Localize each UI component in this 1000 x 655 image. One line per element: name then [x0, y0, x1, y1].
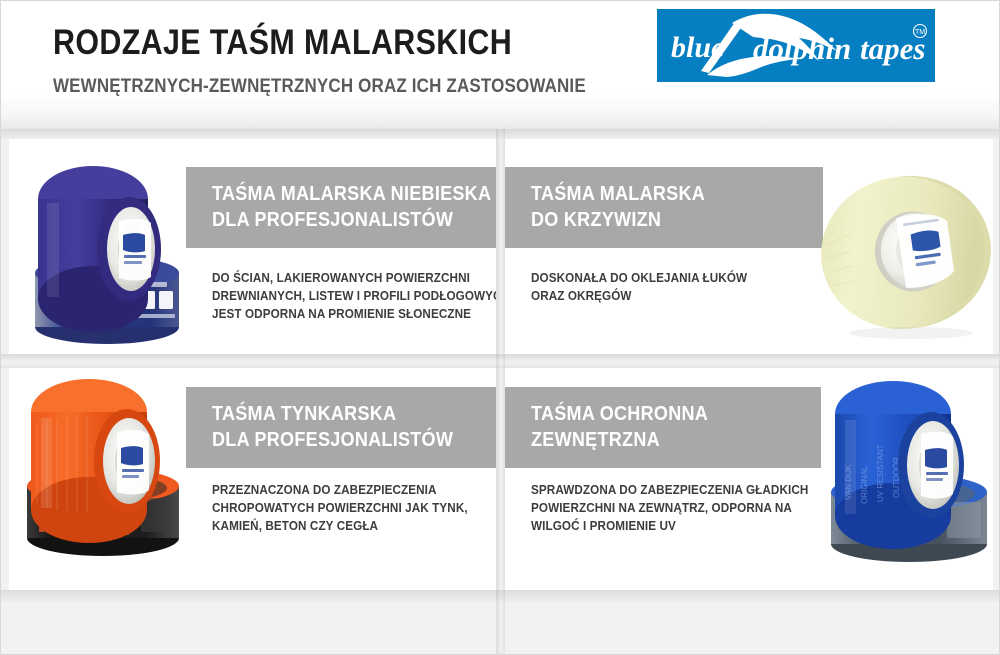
logo-word-dolphin: dolphin [753, 31, 851, 66]
logo-word-blue: blue [671, 31, 724, 64]
card-description-line3: KAMIEŃ, BETON CZY CEGŁA [212, 517, 468, 535]
card-banner: TAŚMA OCHRONNA ZEWNĘTRZNA [505, 387, 821, 468]
product-image-blue-exterior-tape: VAN DIJK ORIGINAL UV RESISTANT OUTDOOR [825, 368, 993, 568]
card-description-line2: POWIERZCHNI NA ZEWNĄTRZ, ODPORNA NA [531, 499, 808, 517]
card-description-line2: DREWNIANYCH, LISTEW I PROFILI PODŁOGOWYC… [212, 287, 496, 305]
card-description-line2: ORAZ OKRĘGÓW [531, 287, 747, 305]
product-image-orange-stucco-tape [23, 368, 188, 563]
grid-gutter-bottom [1, 590, 1000, 604]
card-heading-line1: TAŚMA OCHRONNA [531, 401, 786, 427]
card-description: PRZEZNACZONA DO ZABEZPIECZENIA CHROPOWAT… [212, 481, 468, 535]
poster-header: RODZAJE TAŚM MALARSKICH WEWNĘTRZNYCH-ZEW… [1, 1, 1000, 129]
grid-gutter-vertical [496, 129, 505, 655]
page-title: RODZAJE TAŚM MALARSKICH [53, 23, 586, 63]
product-image-cream-masking-tape [821, 161, 993, 343]
card-heading-line1: TAŚMA MALARSKA NIEBIESKA [212, 181, 462, 207]
brand-logo: blue dolphin tapes TM [657, 9, 935, 82]
card-description: DOSKONAŁA DO OKLEJANIA ŁUKÓW ORAZ OKRĘGÓ… [531, 269, 747, 305]
svg-text:ORIGINAL: ORIGINAL [860, 465, 869, 504]
product-image-blue-painters-tape [31, 151, 186, 351]
card-grid: TAŚMA MALARSKA NIEBIESKA DLA PROFESJONAL… [1, 129, 1000, 655]
card-banner: TAŚMA MALARSKA DO KRZYWIZN [505, 167, 823, 248]
card-description-line2: CHROPOWATYCH POWIERZCHNI JAK TYNK, [212, 499, 468, 517]
card-description-line3: WILGOĆ I PROMIENIE UV [531, 517, 808, 535]
card-banner: TAŚMA TYNKARSKA DLA PROFESJONALISTÓW [186, 387, 496, 468]
card-description: DO ŚCIAN, LAKIEROWANYCH POWIERZCHNI DREW… [212, 269, 496, 323]
header-title-group: RODZAJE TAŚM MALARSKICH WEWNĘTRZNYCH-ZEW… [53, 23, 665, 98]
card-tasma-malarska-niebieska[interactable]: TAŚMA MALARSKA NIEBIESKA DLA PROFESJONAL… [9, 139, 496, 354]
grid-gutter-horizontal [1, 354, 1000, 368]
card-description-line3: JEST ODPORNA NA PROMIENIE SŁONECZNE [212, 305, 496, 323]
card-heading-line2: DLA PROFESJONALISTÓW [212, 427, 462, 453]
card-heading-line2: DLA PROFESJONALISTÓW [212, 207, 462, 233]
infographic-poster: RODZAJE TAŚM MALARSKICH WEWNĘTRZNYCH-ZEW… [0, 0, 1000, 655]
card-tasma-malarska-do-krzywizn[interactable]: TAŚMA MALARSKA DO KRZYWIZN DOSKONAŁA DO … [505, 139, 993, 354]
svg-text:UV RESISTANT: UV RESISTANT [876, 444, 885, 502]
card-description: SPRAWDZONA DO ZABEZPIECZENIA GŁADKICH PO… [531, 481, 808, 535]
card-description-line1: DOSKONAŁA DO OKLEJANIA ŁUKÓW [531, 269, 747, 287]
card-description-line1: SPRAWDZONA DO ZABEZPIECZENIA GŁADKICH [531, 481, 808, 499]
dolphin-logo-icon: blue dolphin tapes TM [657, 9, 935, 82]
card-tasma-tynkarska[interactable]: TAŚMA TYNKARSKA DLA PROFESJONALISTÓW PRZ… [9, 368, 496, 590]
card-banner: TAŚMA MALARSKA NIEBIESKA DLA PROFESJONAL… [186, 167, 496, 248]
card-heading-line1: TAŚMA MALARSKA [531, 181, 788, 207]
card-tasma-ochronna-zewnetrzna[interactable]: TAŚMA OCHRONNA ZEWNĘTRZNA SPRAWDZONA DO … [505, 368, 993, 590]
card-heading-line1: TAŚMA TYNKARSKA [212, 401, 462, 427]
card-description-line1: PRZEZNACZONA DO ZABEZPIECZENIA [212, 481, 468, 499]
card-heading-line2: DO KRZYWIZN [531, 207, 788, 233]
card-heading-line2: ZEWNĘTRZNA [531, 427, 786, 453]
svg-text:TM: TM [915, 29, 925, 36]
card-description-line1: DO ŚCIAN, LAKIEROWANYCH POWIERZCHNI [212, 269, 496, 287]
page-subtitle: WEWNĘTRZNYCH-ZEWNĘTRZNYCH ORAZ ICH ZASTO… [53, 74, 586, 98]
